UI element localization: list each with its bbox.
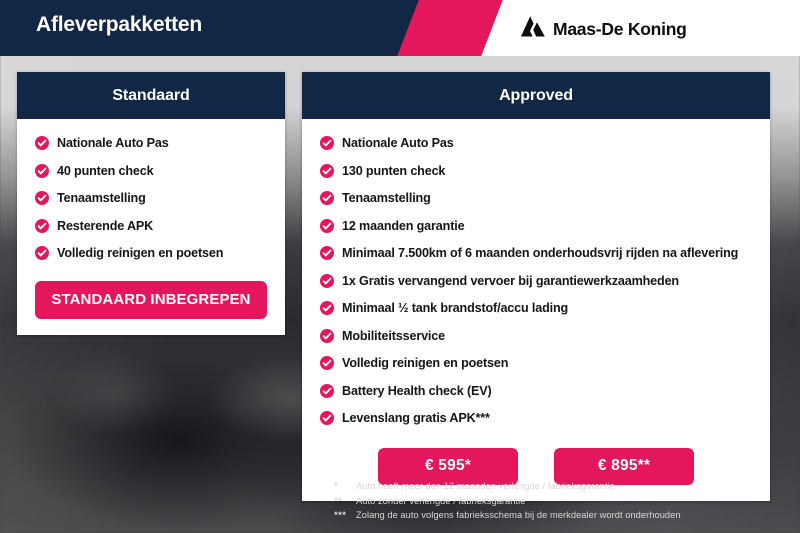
list-item: 1x Gratis vervangend vervoer bij garanti… — [320, 272, 752, 292]
check-circle-icon — [320, 411, 334, 425]
list-item: Nationale Auto Pas — [35, 134, 267, 154]
check-circle-icon — [35, 191, 49, 205]
feature-label: Volledig reinigen en poetsen — [342, 354, 508, 374]
feature-label: Nationale Auto Pas — [57, 134, 169, 154]
page-title: Afleverpakketten — [36, 13, 202, 37]
check-circle-icon — [320, 384, 334, 398]
footnote-marker: *** — [334, 510, 356, 521]
check-circle-icon — [35, 246, 49, 260]
list-item: Mobiliteitsservice — [320, 327, 752, 347]
footnote-marker: ** — [334, 496, 356, 507]
footnotes: * Auto heeft meer dan 12 maanden verleng… — [334, 480, 764, 524]
footnote-text: Auto heeft meer dan 12 maanden verlengde… — [356, 480, 615, 493]
list-item: Resterende APK — [35, 217, 267, 237]
list-item: Tenaamstelling — [320, 189, 752, 209]
list-item: Nationale Auto Pas — [320, 134, 752, 154]
list-item: Tenaamstelling — [35, 189, 267, 209]
feature-label: 40 punten check — [57, 162, 153, 182]
check-circle-icon — [35, 164, 49, 178]
check-circle-icon — [320, 301, 334, 315]
check-circle-icon — [320, 164, 334, 178]
page-header: Afleverpakketten Maas-De Koning — [0, 0, 800, 56]
standaard-inbegrepen-button[interactable]: STANDAARD INBEGREPEN — [35, 281, 267, 319]
list-item: 12 maanden garantie — [320, 217, 752, 237]
poster-canvas: Afleverpakketten Maas-De Koning Standaar… — [0, 0, 800, 533]
check-circle-icon — [320, 274, 334, 288]
card-title-approved: Approved — [302, 72, 770, 119]
check-circle-icon — [320, 356, 334, 370]
feature-label: Tenaamstelling — [342, 189, 431, 209]
list-item: Battery Health check (EV) — [320, 382, 752, 402]
feature-list-standaard: Nationale Auto Pas 40 punten check — [35, 134, 267, 264]
footnote-row: *** Zolang de auto volgens fabrieksschem… — [334, 509, 764, 522]
list-item: Minimaal 7.500km of 6 maanden onderhouds… — [320, 244, 752, 264]
list-item: Volledig reinigen en poetsen — [35, 244, 267, 264]
feature-label: Minimaal ½ tank brandstof/accu lading — [342, 299, 568, 319]
footnote-text: Zolang de auto volgens fabrieksschema bi… — [356, 509, 681, 522]
package-card-standaard: Standaard Nationale Auto Pas — [17, 72, 285, 335]
card-body-approved: Nationale Auto Pas 130 punten check — [302, 119, 770, 501]
feature-label: Mobiliteitsservice — [342, 327, 445, 347]
feature-label: 12 maanden garantie — [342, 217, 464, 237]
check-circle-icon — [320, 246, 334, 260]
check-circle-icon — [320, 136, 334, 150]
list-item: Levenslang gratis APK*** — [320, 409, 752, 429]
list-item: Volledig reinigen en poetsen — [320, 354, 752, 374]
feature-label: 130 punten check — [342, 162, 445, 182]
feature-label: 1x Gratis vervangend vervoer bij garanti… — [342, 272, 679, 292]
feature-label: Nationale Auto Pas — [342, 134, 454, 154]
footnote-row: ** Auto zonder verlengde / fabrieksgaran… — [334, 495, 764, 508]
maas-de-koning-m-logo-icon — [520, 15, 546, 44]
package-card-approved: Approved Nationale Auto Pas — [302, 72, 770, 501]
check-circle-icon — [320, 219, 334, 233]
feature-label: Minimaal 7.500km of 6 maanden onderhouds… — [342, 244, 738, 264]
list-item: Minimaal ½ tank brandstof/accu lading — [320, 299, 752, 319]
feature-list-approved: Nationale Auto Pas 130 punten check — [320, 134, 752, 429]
feature-label: Battery Health check (EV) — [342, 382, 492, 402]
feature-label: Volledig reinigen en poetsen — [57, 244, 223, 264]
list-item: 130 punten check — [320, 162, 752, 182]
check-circle-icon — [35, 219, 49, 233]
check-circle-icon — [320, 191, 334, 205]
footnote-marker: * — [334, 481, 356, 492]
footnote-row: * Auto heeft meer dan 12 maanden verleng… — [334, 480, 764, 493]
list-item: 40 punten check — [35, 162, 267, 182]
feature-label: Tenaamstelling — [57, 189, 146, 209]
check-circle-icon — [35, 136, 49, 150]
footnote-text: Auto zonder verlengde / fabrieksgarantie — [356, 495, 525, 508]
card-body-standaard: Nationale Auto Pas 40 punten check — [17, 119, 285, 335]
brand-logo: Maas-De Koning — [520, 15, 687, 44]
feature-label: Levenslang gratis APK*** — [342, 409, 490, 429]
feature-label: Resterende APK — [57, 217, 153, 237]
card-title-standaard: Standaard — [17, 72, 285, 119]
brand-name: Maas-De Koning — [553, 19, 687, 40]
check-circle-icon — [320, 329, 334, 343]
